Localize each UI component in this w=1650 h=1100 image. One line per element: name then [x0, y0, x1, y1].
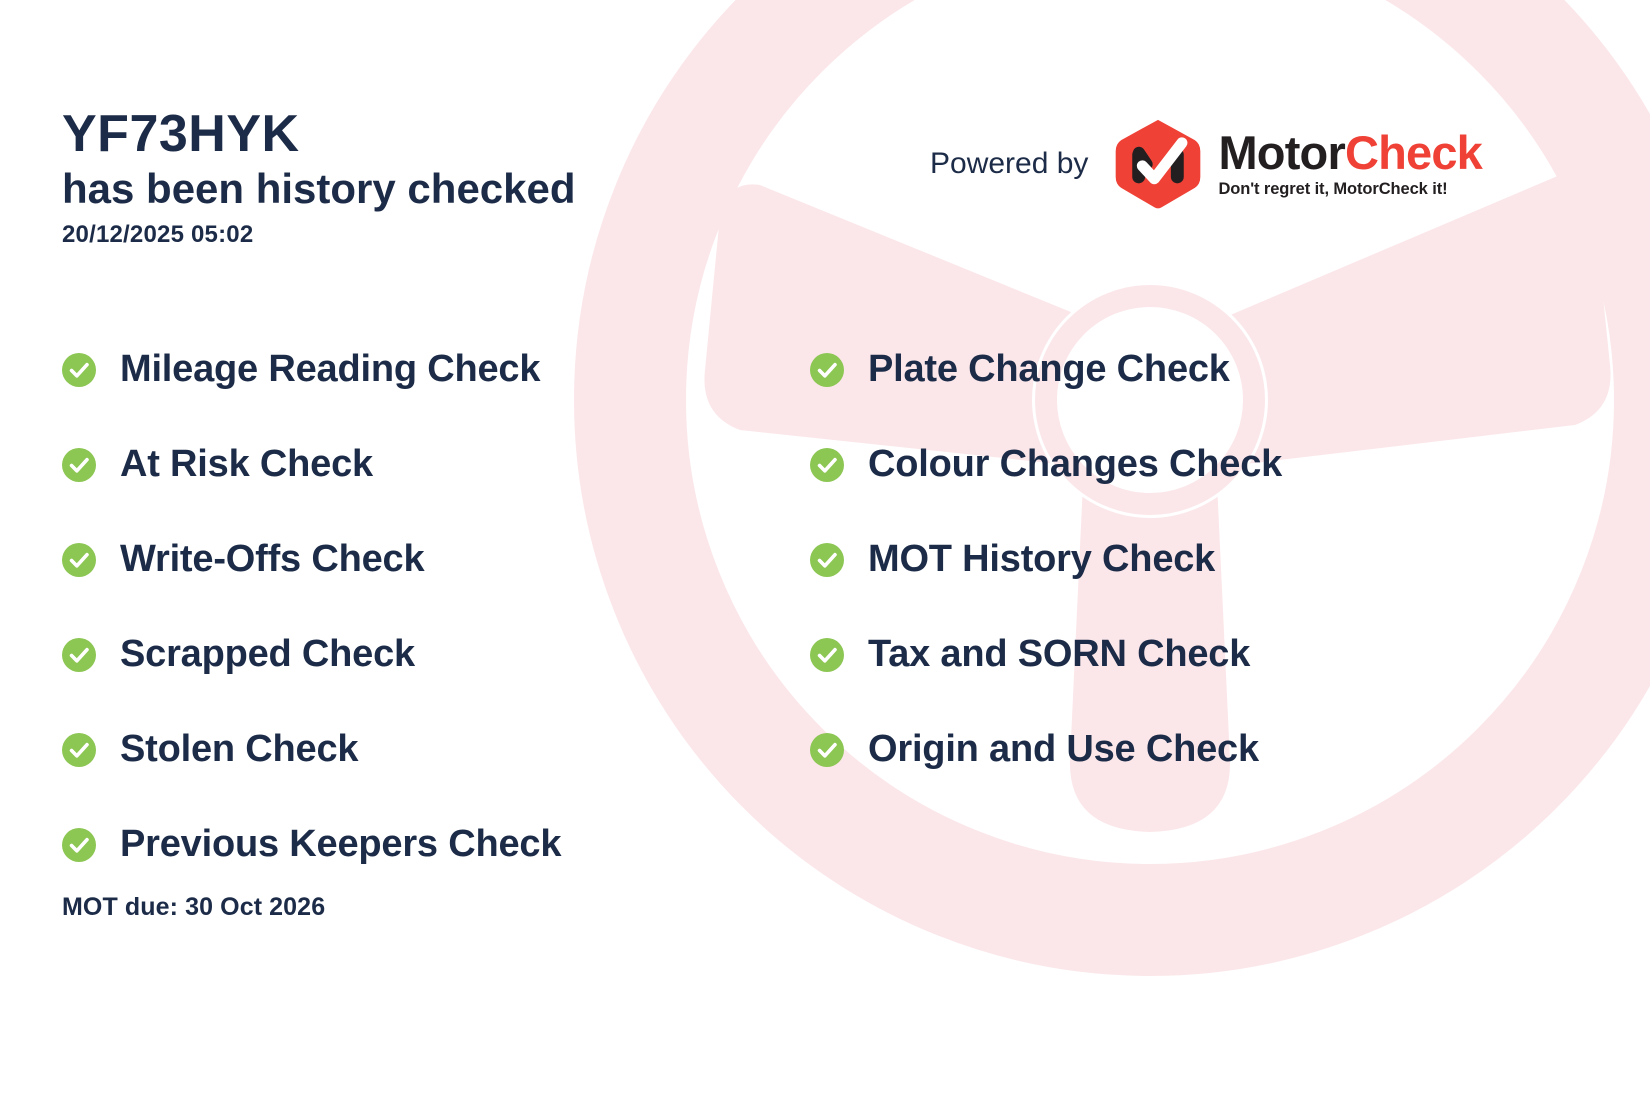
- motorcheck-hexagon-logo-icon: [1112, 118, 1204, 210]
- brand-name-check: Check: [1345, 126, 1482, 179]
- check-circle-icon: [62, 448, 96, 482]
- powered-by-block: Powered by MotorCheck: [930, 118, 1482, 210]
- brand-tagline: Don't regret it, MotorCheck it!: [1218, 180, 1482, 199]
- check-circle-icon: [62, 543, 96, 577]
- checks-right-column: Plate Change Check Colour Changes Check …: [810, 322, 1510, 797]
- checks-left-column: Mileage Reading Check At Risk Check Writ…: [62, 322, 782, 892]
- check-circle-icon: [810, 638, 844, 672]
- check-timestamp: 20/12/2025 05:02: [62, 221, 822, 249]
- list-item: MOT History Check: [810, 512, 1510, 607]
- brand-name-motor: Motor: [1218, 126, 1345, 179]
- check-circle-icon: [62, 353, 96, 387]
- header-block: YF73HYK has been history checked 20/12/2…: [62, 105, 822, 249]
- mot-due-date: MOT due: 30 Oct 2026: [62, 893, 325, 922]
- check-circle-icon: [810, 448, 844, 482]
- list-item: Mileage Reading Check: [62, 322, 782, 417]
- check-circle-icon: [62, 828, 96, 862]
- list-item: Colour Changes Check: [810, 417, 1510, 512]
- page-title: has been history checked: [62, 164, 822, 214]
- vehicle-history-check-card: YF73HYK has been history checked 20/12/2…: [0, 0, 1650, 1100]
- list-item: Previous Keepers Check: [62, 797, 782, 892]
- list-item: Scrapped Check: [62, 607, 782, 702]
- check-label: Write-Offs Check: [120, 538, 424, 581]
- list-item: At Risk Check: [62, 417, 782, 512]
- check-label: MOT History Check: [868, 538, 1215, 581]
- list-item: Plate Change Check: [810, 322, 1510, 417]
- check-label: Tax and SORN Check: [868, 633, 1250, 676]
- check-circle-icon: [62, 638, 96, 672]
- check-circle-icon: [62, 733, 96, 767]
- motorcheck-wordmark: MotorCheck Don't regret it, MotorCheck i…: [1218, 129, 1482, 199]
- check-circle-icon: [810, 353, 844, 387]
- check-label: Mileage Reading Check: [120, 348, 540, 391]
- check-label: Previous Keepers Check: [120, 823, 561, 866]
- check-circle-icon: [810, 733, 844, 767]
- check-label: Scrapped Check: [120, 633, 415, 676]
- check-label: Colour Changes Check: [868, 443, 1282, 486]
- check-circle-icon: [810, 543, 844, 577]
- list-item: Origin and Use Check: [810, 702, 1510, 797]
- check-label: Plate Change Check: [868, 348, 1230, 391]
- list-item: Write-Offs Check: [62, 512, 782, 607]
- powered-by-label: Powered by: [930, 147, 1088, 181]
- vehicle-registration-plate: YF73HYK: [62, 105, 822, 164]
- list-item: Tax and SORN Check: [810, 607, 1510, 702]
- check-label: Origin and Use Check: [868, 728, 1259, 771]
- motorcheck-logo[interactable]: MotorCheck Don't regret it, MotorCheck i…: [1112, 118, 1482, 210]
- check-label: Stolen Check: [120, 728, 358, 771]
- check-label: At Risk Check: [120, 443, 373, 486]
- list-item: Stolen Check: [62, 702, 782, 797]
